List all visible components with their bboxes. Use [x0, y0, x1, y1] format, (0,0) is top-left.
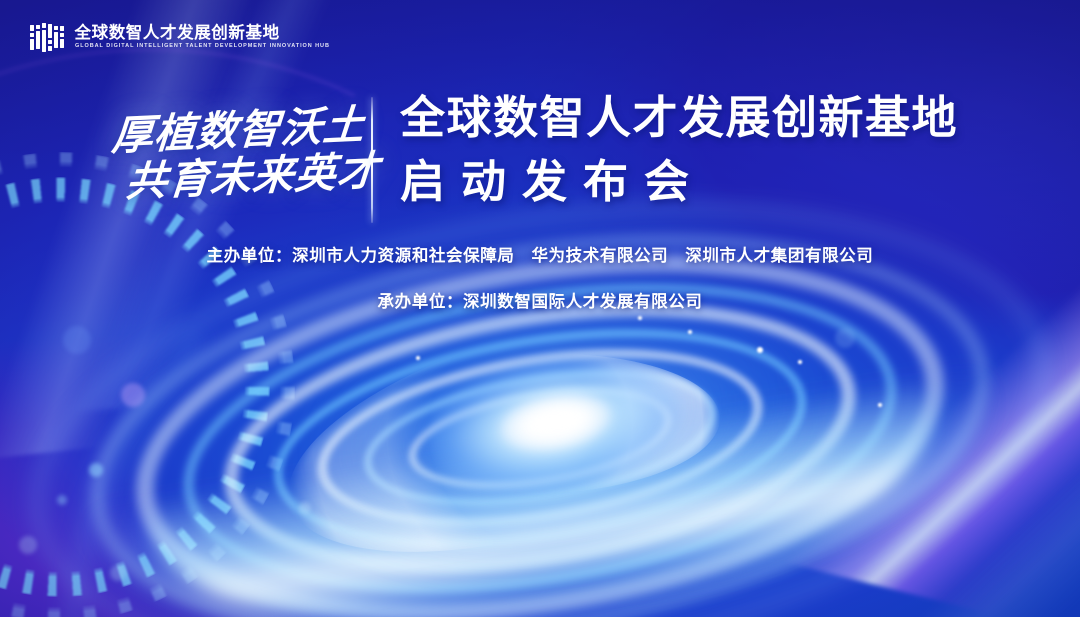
poster-canvas: 全球数智人才发展创新基地 GLOBAL DIGITAL INTELLIGENT …: [0, 0, 1080, 617]
slogan-line-2: 共育未来英才: [124, 149, 364, 204]
equalizer-bar-segment: [60, 26, 64, 31]
poster-content: 全球数智人才发展创新基地 GLOBAL DIGITAL INTELLIGENT …: [0, 0, 1080, 617]
equalizer-bars-icon: [30, 22, 64, 52]
equalizer-bar-segment: [54, 32, 58, 48]
organizer-label: 主办单位：: [207, 247, 293, 265]
calligraphy-slogan: 厚植数智沃土 共育未来英才: [112, 96, 362, 222]
equalizer-bar-segment: [54, 26, 58, 30]
page-subtitle: 启动发布会: [400, 156, 958, 208]
equalizer-bar-column-6: [60, 22, 64, 52]
organizer-name: 华为技术有限公司: [531, 247, 668, 265]
equalizer-bar-segment: [48, 24, 52, 38]
equalizer-bar-segment: [48, 46, 52, 51]
equalizer-bar-segment: [60, 39, 64, 48]
equalizer-bar-segment: [42, 23, 46, 28]
brand-name-cn: 全球数智人才发展创新基地: [75, 25, 325, 42]
organizer-name: 深圳市人才集团有限公司: [685, 247, 873, 265]
equalizer-bar-column-2: [36, 22, 40, 52]
equalizer-bar-segment: [30, 33, 34, 37]
equalizer-bar-segment: [36, 31, 40, 49]
equalizer-bar-column-5: [54, 22, 58, 52]
organizers-block: 主办单位：深圳市人力资源和社会保障局华为技术有限公司深圳市人才集团有限公司 承办…: [0, 248, 1080, 310]
vertical-divider: [371, 97, 373, 223]
brand-name-en: GLOBAL DIGITAL INTELLIGENT TALENT DEVELO…: [75, 44, 330, 49]
equalizer-bar-segment: [30, 39, 34, 50]
title-block: 全球数智人才发展创新基地 启动发布会: [400, 92, 958, 208]
brand-text: 全球数智人才发展创新基地 GLOBAL DIGITAL INTELLIGENT …: [75, 25, 325, 49]
organizer-label: 承办单位：: [378, 293, 464, 311]
co-organizers-line: 承办单位：深圳数智国际人才发展有限公司: [0, 294, 1080, 311]
organizer-name: 深圳市人力资源和社会保障局: [292, 247, 514, 265]
host-organizers-line: 主办单位：深圳市人力资源和社会保障局华为技术有限公司深圳市人才集团有限公司: [0, 248, 1080, 265]
equalizer-bar-column-4: [48, 22, 52, 52]
equalizer-bar-segment: [36, 25, 40, 29]
equalizer-bar-column-3: [42, 22, 46, 52]
equalizer-bar-segment: [48, 40, 52, 44]
organizer-name: 深圳数智国际人才发展有限公司: [463, 293, 702, 311]
equalizer-bar-segment: [60, 33, 64, 37]
equalizer-bar-segment: [30, 25, 34, 31]
equalizer-bar-column-1: [30, 22, 34, 52]
page-title: 全球数智人才发展创新基地: [400, 92, 958, 144]
brand-lockup: 全球数智人才发展创新基地 GLOBAL DIGITAL INTELLIGENT …: [30, 22, 324, 52]
equalizer-bar-segment: [42, 30, 46, 52]
